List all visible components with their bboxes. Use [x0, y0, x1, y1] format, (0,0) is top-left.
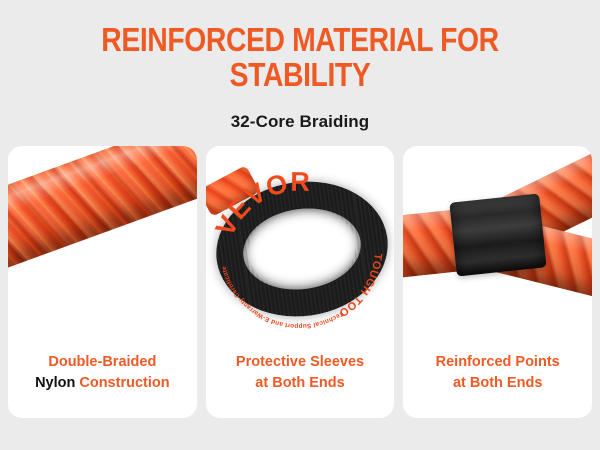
caption-line-1: Reinforced Points: [436, 352, 560, 373]
card-caption: Double-Braided Nylon Construction: [8, 344, 197, 418]
caption-line-2: Nylon Construction: [35, 373, 170, 394]
feature-card-protective-sleeves: VEVOR TOUGH TOOLS. Technical Support and…: [206, 146, 395, 418]
reinforced-point-photo: [403, 146, 592, 344]
page-title: REINFORCED MATERIAL FOR STABILITY: [42, 22, 558, 92]
caption-line-1: Double-Braided: [48, 352, 156, 373]
caption-line-1: Protective Sleeves: [236, 352, 364, 373]
feature-card-double-braided-nylon: Double-Braided Nylon Construction: [8, 146, 197, 418]
sleeve-loop-group: VEVOR TOUGH TOOLS. Technical Support and…: [206, 146, 395, 344]
feature-card-row: Double-Braided Nylon Construction: [8, 146, 592, 418]
braided-rope-strand: [8, 146, 197, 274]
black-reinforcement-wrap: [450, 193, 547, 276]
page-subtitle: 32-Core Braiding: [0, 112, 600, 132]
header: REINFORCED MATERIAL FOR STABILITY 32-Cor…: [0, 0, 600, 140]
promo-infographic: REINFORCED MATERIAL FOR STABILITY 32-Cor…: [0, 0, 600, 450]
caption-line-2-rest: Construction: [75, 375, 169, 391]
caption-line-2: at Both Ends: [453, 373, 542, 394]
card-caption: Reinforced Points at Both Ends: [403, 344, 592, 418]
rope-braid-photo: [8, 146, 197, 344]
vevor-sleeve-photo: VEVOR TOUGH TOOLS. Technical Support and…: [206, 146, 395, 344]
card-caption: Protective Sleeves at Both Ends: [206, 344, 395, 418]
feature-card-reinforced-points: Reinforced Points at Both Ends: [403, 146, 592, 418]
caption-highlight-nylon: Nylon: [35, 375, 75, 391]
caption-line-2: at Both Ends: [255, 373, 344, 394]
